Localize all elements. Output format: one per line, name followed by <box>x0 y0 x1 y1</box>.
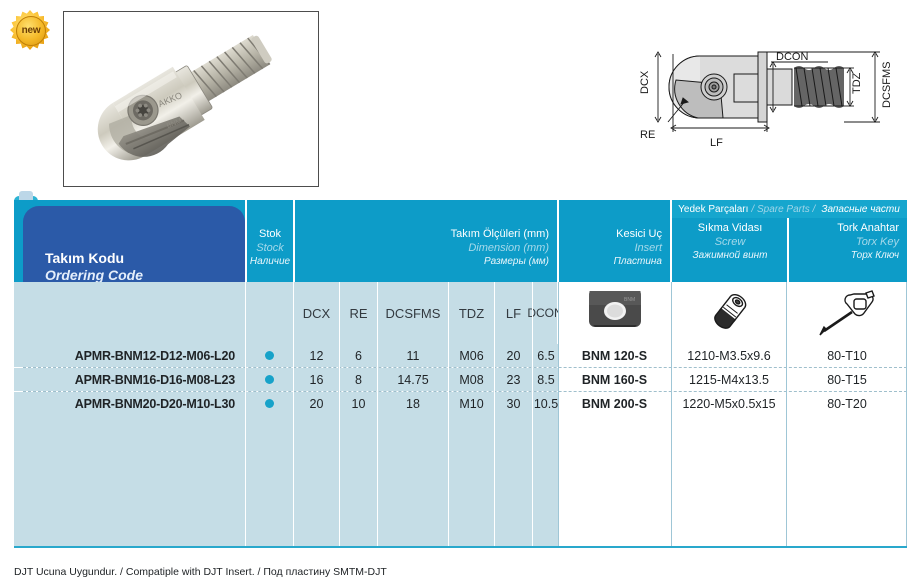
cell-tdz: M08 <box>449 368 494 391</box>
group-header-insert: Kesici Uç Insert Пластина <box>560 228 670 268</box>
cell-screw: 1210-M3.5x9.6 <box>672 344 786 367</box>
cell-dcsfms: 18 <box>378 392 448 415</box>
product-photo-image: AKKO BNM <box>64 12 318 186</box>
torx-key-en: Torx Key <box>790 236 899 250</box>
cell-dcon: 10.5 <box>533 392 559 415</box>
cell-lf: 30 <box>495 392 532 415</box>
insert-icon: BNM <box>577 291 653 335</box>
table-row[interactable]: APMR-BNM12-D12-M06-L20 12 6 11 M06 20 6.… <box>14 344 907 367</box>
sub-header-tdz: TDZ <box>449 282 494 344</box>
group-header-screw: Sıkma Vidası Screw Зажимной винт <box>673 222 787 262</box>
screw-icon-cell <box>672 282 786 344</box>
dim-label-re: RE <box>640 129 655 141</box>
grid-line-3 <box>339 282 340 546</box>
cell-stock <box>246 368 293 391</box>
spare-parts-banner-label: Yedek Parçaları / Spare Parts / Запасные… <box>671 200 907 218</box>
cell-re: 10 <box>340 392 377 415</box>
screw-tr: Sıkma Vidası <box>673 222 787 236</box>
cell-screw: 1220-M5x0.5x15 <box>672 392 786 415</box>
grid-line-10 <box>786 282 787 546</box>
header-notch-5 <box>787 218 789 282</box>
dim-label-lf: LF <box>710 137 723 149</box>
sub-header-dcx: DCX <box>294 282 339 344</box>
cell-dcsfms: 14.75 <box>378 368 448 391</box>
table-body: APMR-BNM12-D12-M06-L20 12 6 11 M06 20 6.… <box>14 344 907 548</box>
grid-line-4 <box>377 282 378 546</box>
stock-tr: Stok <box>248 228 292 242</box>
stock-en: Stock <box>248 242 292 256</box>
technical-drawing: DCX RE LF DCON TDZ DCSFMS <box>628 22 913 187</box>
sub-header-dcsfms: DCSFMS <box>378 282 448 344</box>
sub-header-re: RE <box>340 282 377 344</box>
torx-key-tr: Tork Anahtar <box>790 222 899 236</box>
spare-parts-en: / Spare Parts / <box>748 204 818 215</box>
torx-key-ru: Торх Ключ <box>790 250 899 263</box>
grid-line-7 <box>532 282 533 546</box>
cell-torx-key: 80-T10 <box>787 344 907 367</box>
sub-header-dcon: DCON <box>533 282 557 344</box>
grid-line-5 <box>448 282 449 546</box>
product-photo: AKKO BNM <box>63 11 319 187</box>
grid-line-8 <box>558 282 559 546</box>
cell-screw: 1215-M4x13.5 <box>672 368 786 391</box>
badge-disc: new <box>16 16 46 46</box>
cell-dcx: 16 <box>294 368 339 391</box>
dimension-ru: Размеры (мм) <box>296 256 549 269</box>
cell-dcx: 20 <box>294 392 339 415</box>
grid-line-2 <box>293 282 294 546</box>
insert-ru: Пластина <box>560 256 662 269</box>
cell-insert: BNM 160-S <box>559 368 670 391</box>
dim-label-dcon: DCON <box>776 51 808 63</box>
spare-parts-tr: Yedek Parçaları <box>678 204 748 215</box>
screw-ru: Зажимной винт <box>673 250 787 263</box>
screw-en: Screw <box>673 236 787 250</box>
group-header-stock: Stok Stock Наличие <box>248 228 292 268</box>
cell-re: 8 <box>340 368 377 391</box>
cell-stock <box>246 392 293 415</box>
sub-cell-stock <box>246 282 293 344</box>
header-notch-4 <box>670 200 672 282</box>
table-row[interactable]: APMR-BNM16-D16-M08-L23 16 8 14.75 M08 23… <box>14 368 907 391</box>
footnote: DJT Ucuna Uygundur. / Compatiple with DJ… <box>14 566 387 578</box>
grid-line-9 <box>671 282 672 546</box>
insert-icon-cell: BNM <box>559 282 670 344</box>
stock-dot-icon <box>265 375 274 384</box>
header-notch-2 <box>293 200 295 282</box>
cell-torx-key: 80-T20 <box>787 392 907 415</box>
spare-parts-ru: Запасные части <box>818 204 899 215</box>
grid-line-6 <box>494 282 495 546</box>
cell-dcon: 8.5 <box>533 368 559 391</box>
header-notch-1 <box>245 200 247 282</box>
insert-tr: Kesici Uç <box>560 228 662 242</box>
cell-code: APMR-BNM20-D20-M10-L30 <box>14 392 245 415</box>
sub-cell-code <box>14 282 245 344</box>
stock-dot-icon <box>265 351 274 360</box>
sub-header-row: DCX RE DCSFMS TDZ LF DCON BNM <box>14 282 907 344</box>
table-bottom-border <box>14 546 907 548</box>
spare-parts-band: Yedek Parçaları / Spare Parts / Запасные… <box>671 200 907 218</box>
dim-label-dcx: DCX <box>639 70 651 94</box>
cell-stock <box>246 344 293 367</box>
cell-dcx: 12 <box>294 344 339 367</box>
dimension-tr: Takım Ölçüleri (mm) <box>296 228 549 242</box>
cell-insert: BNM 200-S <box>559 392 670 415</box>
cell-code: APMR-BNM12-D12-M06-L20 <box>14 344 245 367</box>
cell-re: 6 <box>340 344 377 367</box>
technical-drawing-svg: DCX RE LF DCON TDZ DCSFMS <box>628 22 913 187</box>
header-notch-3 <box>557 200 559 282</box>
new-badge: new <box>10 10 50 50</box>
stock-ru: Наличие <box>248 256 292 269</box>
insert-en: Insert <box>560 242 662 256</box>
grid-line-11 <box>906 282 907 546</box>
torx-key-icon <box>814 289 880 337</box>
cell-insert: BNM 120-S <box>559 344 670 367</box>
cell-torx-key: 80-T15 <box>787 368 907 391</box>
screw-icon <box>704 290 754 336</box>
ordering-code-tr: Takım Kodu <box>45 250 143 267</box>
dim-label-dcsfms: DCSFMS <box>881 62 893 108</box>
cell-tdz: M06 <box>449 344 494 367</box>
dimension-en: Dimension (mm) <box>296 242 549 256</box>
specification-table: Yedek Parçaları / Spare Parts / Запасные… <box>14 200 907 548</box>
svg-text:BNM: BNM <box>624 297 635 303</box>
stock-dot-icon <box>265 399 274 408</box>
cell-tdz: M10 <box>449 392 494 415</box>
cell-lf: 23 <box>495 368 532 391</box>
cell-lf: 20 <box>495 344 532 367</box>
grid-line-1 <box>245 282 246 546</box>
group-header-dimension: Takım Ölçüleri (mm) Dimension (mm) Разме… <box>296 228 557 268</box>
table-row[interactable]: APMR-BNM20-D20-M10-L30 20 10 18 M10 30 1… <box>14 392 907 415</box>
group-header-torx-key: Tork Anahtar Torx Key Торх Ключ <box>790 222 907 262</box>
new-badge-label: new <box>22 26 41 36</box>
cell-dcon: 6.5 <box>533 344 559 367</box>
dim-label-tdz: TDZ <box>851 72 863 94</box>
cell-code: APMR-BNM16-D16-M08-L23 <box>14 368 245 391</box>
cell-dcsfms: 11 <box>378 344 448 367</box>
torx-key-icon-cell <box>787 282 907 344</box>
